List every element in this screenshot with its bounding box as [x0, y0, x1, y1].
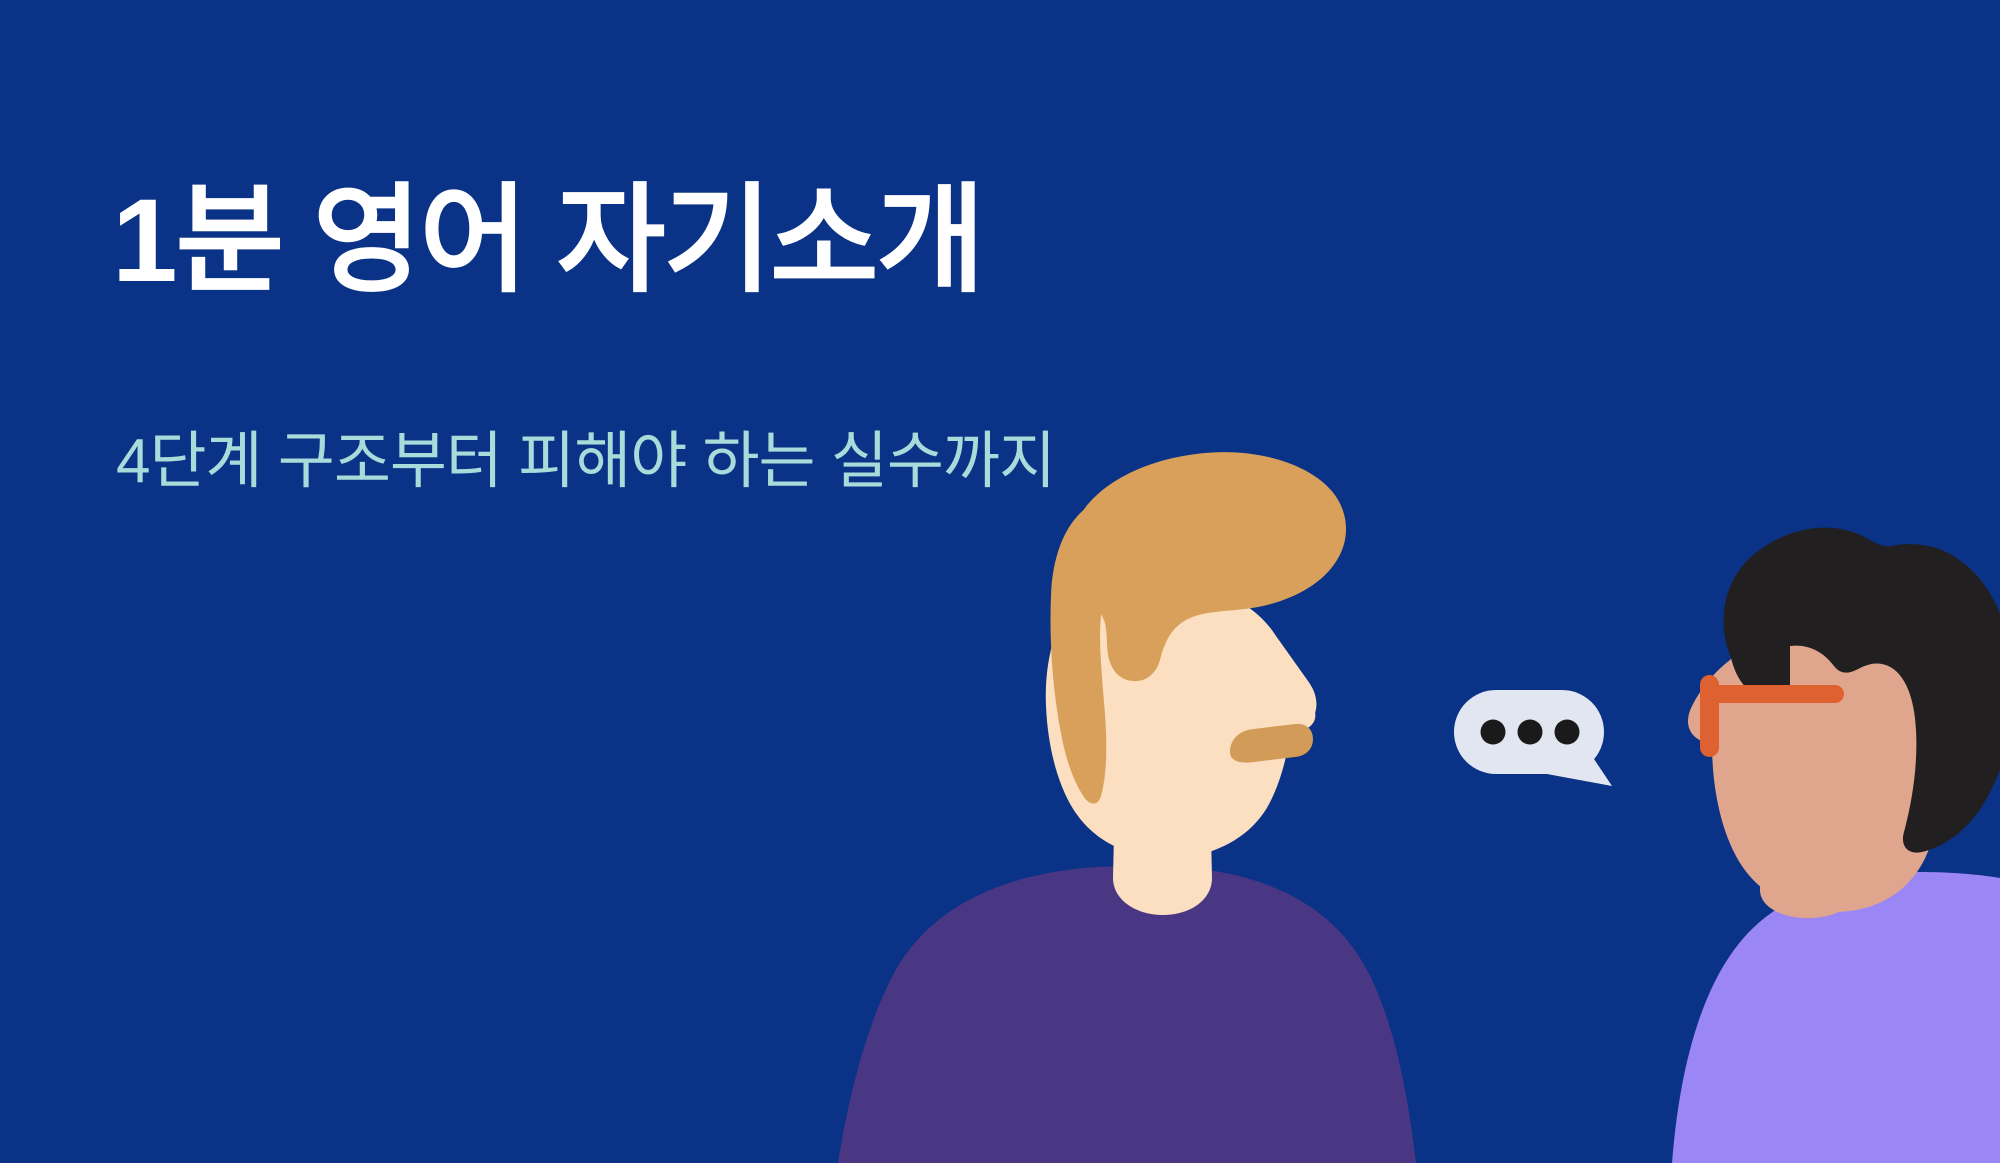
page-title: 1분 영어 자기소개	[112, 172, 983, 311]
hero-banner: 1분 영어 자기소개 4단계 구조부터 피해야 하는 실수까지	[0, 0, 2000, 1163]
page-subtitle: 4단계 구조부터 피해야 하는 실수까지	[116, 425, 1055, 499]
